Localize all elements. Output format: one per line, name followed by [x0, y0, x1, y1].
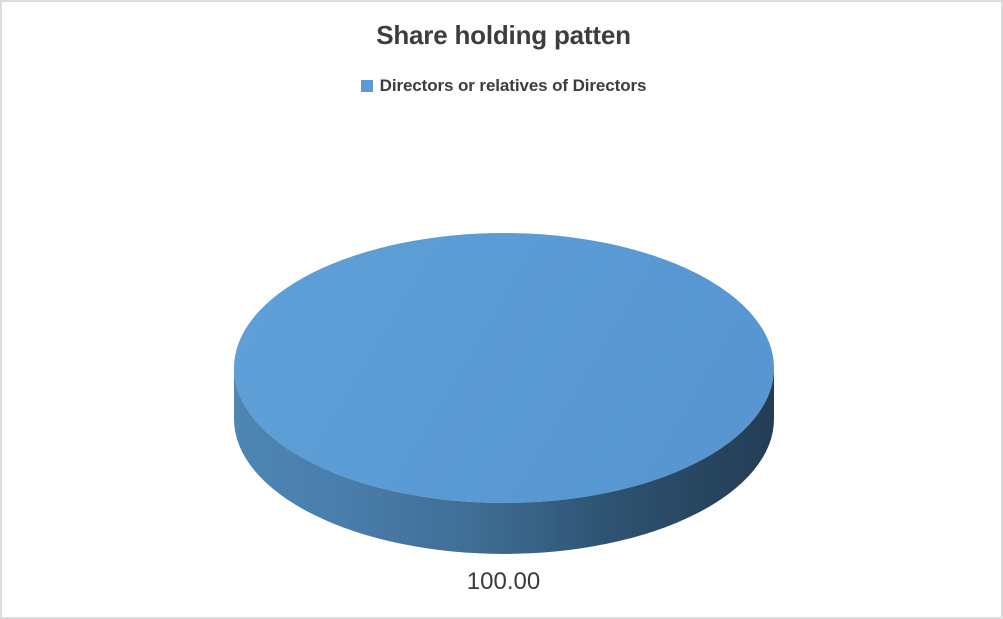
legend-item-label: Directors or relatives of Directors — [380, 76, 647, 96]
chart-title: Share holding patten — [2, 20, 1003, 51]
chart-canvas: Share holding patten Directors or relati… — [0, 0, 1003, 619]
pie-slice-top-face[interactable] — [234, 233, 774, 503]
pie-chart-3d[interactable] — [233, 233, 776, 558]
pie-slice-group — [233, 233, 776, 558]
pie-data-label: 100.00 — [2, 568, 1003, 596]
chart-legend: Directors or relatives of Directors — [2, 76, 1003, 96]
legend-color-swatch-icon — [361, 80, 373, 92]
legend-item-directors[interactable]: Directors or relatives of Directors — [361, 76, 647, 96]
